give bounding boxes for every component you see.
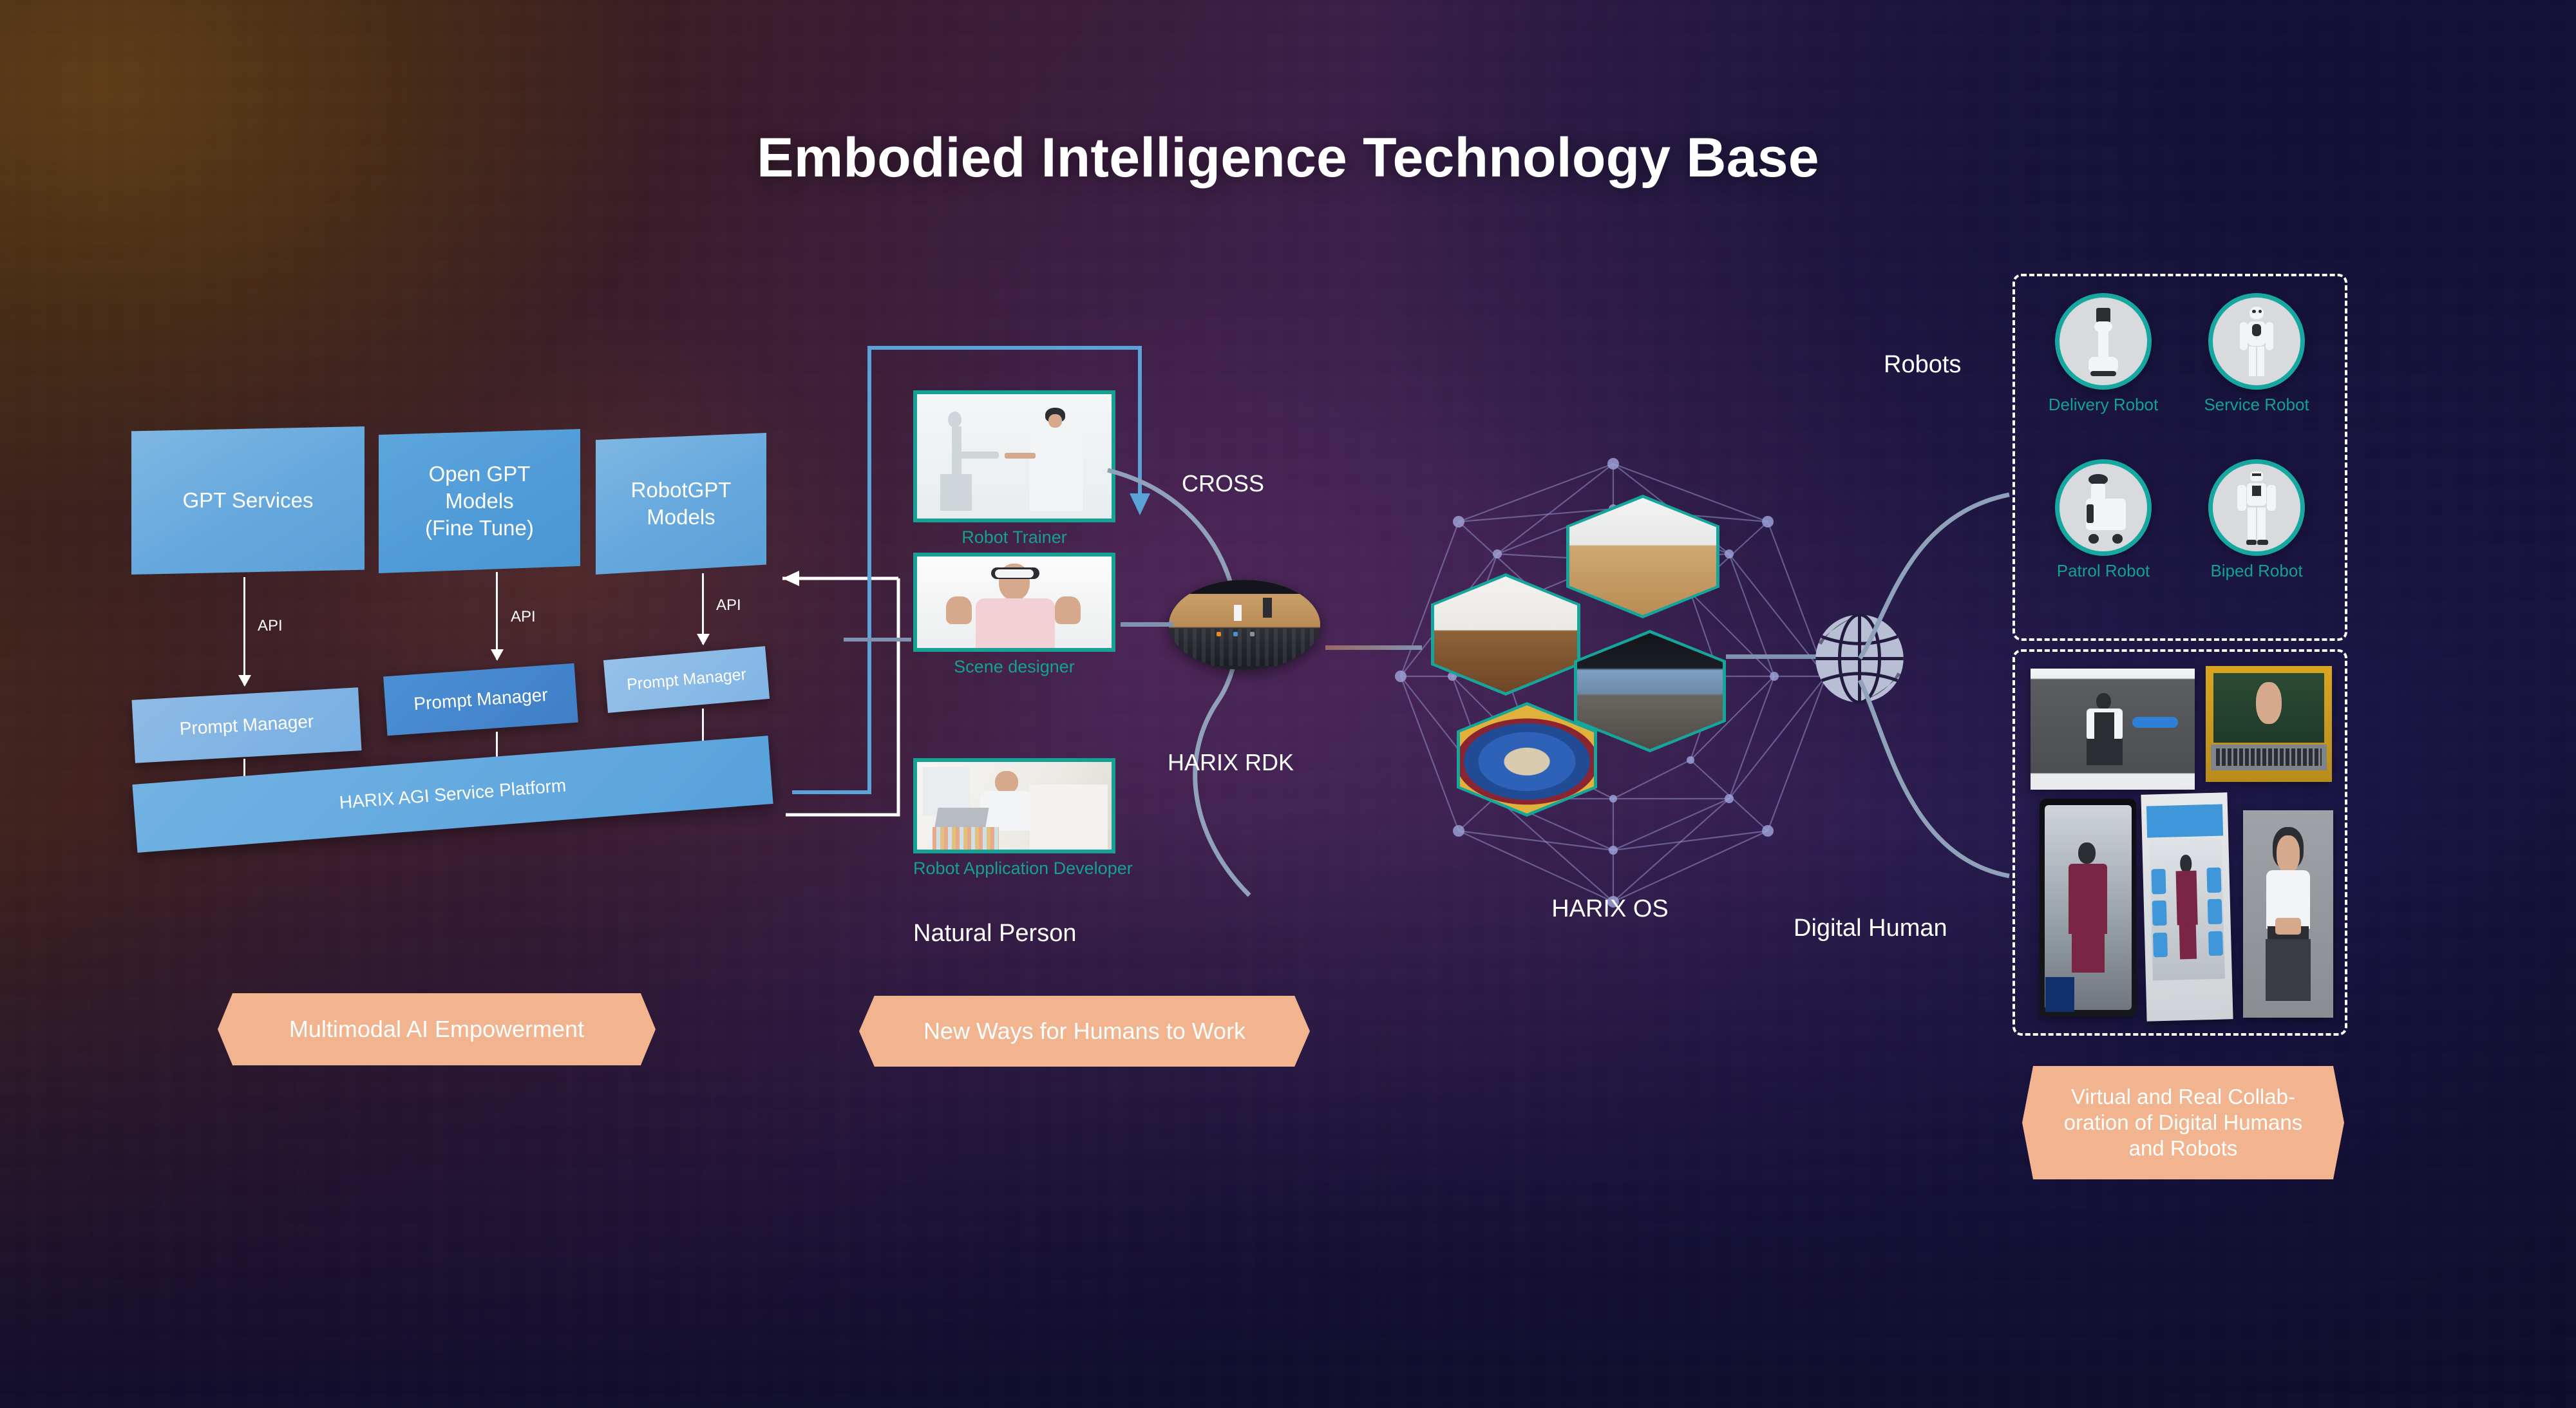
robots-section-label: Robots [1884, 351, 1961, 379]
biped-robot-photo [2208, 459, 2305, 556]
banner-new-ways-for-humans-to-work: New Ways for Humans to Work [859, 996, 1310, 1067]
robot-label: Patrol Robot [2057, 561, 2150, 581]
robot-item-delivery[interactable]: Delivery Robot [2032, 293, 2175, 455]
delivery-robot-photo [2055, 293, 2152, 390]
digital-human-collage [2012, 649, 2347, 1036]
kiosk-display-avatar[interactable] [2031, 669, 2195, 790]
person-card-label: Scene designer [913, 657, 1115, 677]
natural-person-group-title: Natural Person [913, 920, 1076, 947]
banner-virtual-real-collaboration: Virtual and Real Collab- oration of Digi… [2022, 1066, 2344, 1179]
api-arrow-2 [496, 572, 498, 660]
person-card-label: Robot Trainer [913, 528, 1115, 547]
robot-label: Delivery Robot [2049, 395, 2159, 415]
robot-item-biped[interactable]: Biped Robot [2185, 459, 2328, 622]
service-robot-photo [2208, 293, 2305, 390]
model-box-label: GPT Services [183, 487, 314, 514]
banner-label: Virtual and Real Collab- oration of Digi… [2064, 1084, 2303, 1162]
standing-kiosk-avatar[interactable] [2141, 792, 2233, 1021]
platform-people-connector [844, 638, 911, 642]
robots-grid: Delivery Robot Service Robot [2032, 293, 2328, 622]
robot-item-service[interactable]: Service Robot [2185, 293, 2328, 455]
banner-label: New Ways for Humans to Work [923, 1017, 1245, 1045]
banner-label: Multimodal AI Empowerment [289, 1015, 584, 1043]
model-box-label: RobotGPT Models [631, 477, 732, 531]
model-box-robotgpt-models[interactable]: RobotGPT Models [596, 433, 766, 575]
harix-rdk-preview[interactable] [1169, 580, 1320, 670]
prompt-manager-label: Prompt Manager [413, 685, 548, 714]
laptop-video-avatar[interactable] [2206, 666, 2332, 782]
api-label-3: API [716, 596, 741, 614]
harix-rdk-label: HARIX RDK [1168, 749, 1294, 776]
robot-label: Biped Robot [2210, 561, 2302, 581]
api-label-1: API [258, 617, 283, 635]
robot-label: Service Robot [2204, 395, 2309, 415]
slide-canvas: Embodied Intelligence Technology Base GP… [0, 0, 2576, 1408]
phone-app-avatar[interactable] [2040, 799, 2136, 1016]
patrol-robot-photo [2055, 459, 2152, 556]
model-box-label: Open GPT Models (Fine Tune) [425, 461, 534, 542]
api-arrow-3 [702, 573, 704, 644]
platform-label: HARIX AGI Service Platform [339, 775, 567, 813]
scene-to-rdk-connector [1121, 622, 1173, 627]
api-label-2: API [511, 608, 536, 626]
vr-scene-designer-photo [913, 553, 1115, 652]
rdk-to-os-connector [1325, 645, 1422, 650]
cross-label: CROSS [1182, 470, 1264, 497]
model-box-open-gpt-models[interactable]: Open GPT Models (Fine Tune) [379, 429, 580, 573]
robot-item-patrol[interactable]: Patrol Robot [2032, 459, 2175, 622]
api-arrow-1 [243, 577, 245, 685]
person-card-scene-designer[interactable]: Scene designer [913, 553, 1115, 677]
developer-laptop-photo [913, 758, 1115, 853]
os-to-globe-connector [1726, 654, 1823, 659]
robot-trainer-photo [913, 390, 1115, 522]
banner-multimodal-ai-empowerment: Multimodal AI Empowerment [218, 993, 656, 1065]
3d-girl-avatar[interactable] [2243, 810, 2333, 1018]
digital-human-section-label: Digital Human [1794, 915, 1947, 942]
page-title: Embodied Intelligence Technology Base [0, 126, 2576, 190]
harix-os-label: HARIX OS [1417, 895, 1803, 923]
cross-rdk-curve [1095, 425, 1365, 915]
prompt-manager-label: Prompt Manager [179, 711, 314, 739]
model-box-gpt-services[interactable]: GPT Services [131, 426, 365, 575]
person-card-robot-trainer[interactable]: Robot Trainer [913, 390, 1115, 547]
prompt-manager-label: Prompt Manager [626, 665, 747, 694]
prompt-manager-1[interactable]: Prompt Manager [132, 687, 362, 763]
